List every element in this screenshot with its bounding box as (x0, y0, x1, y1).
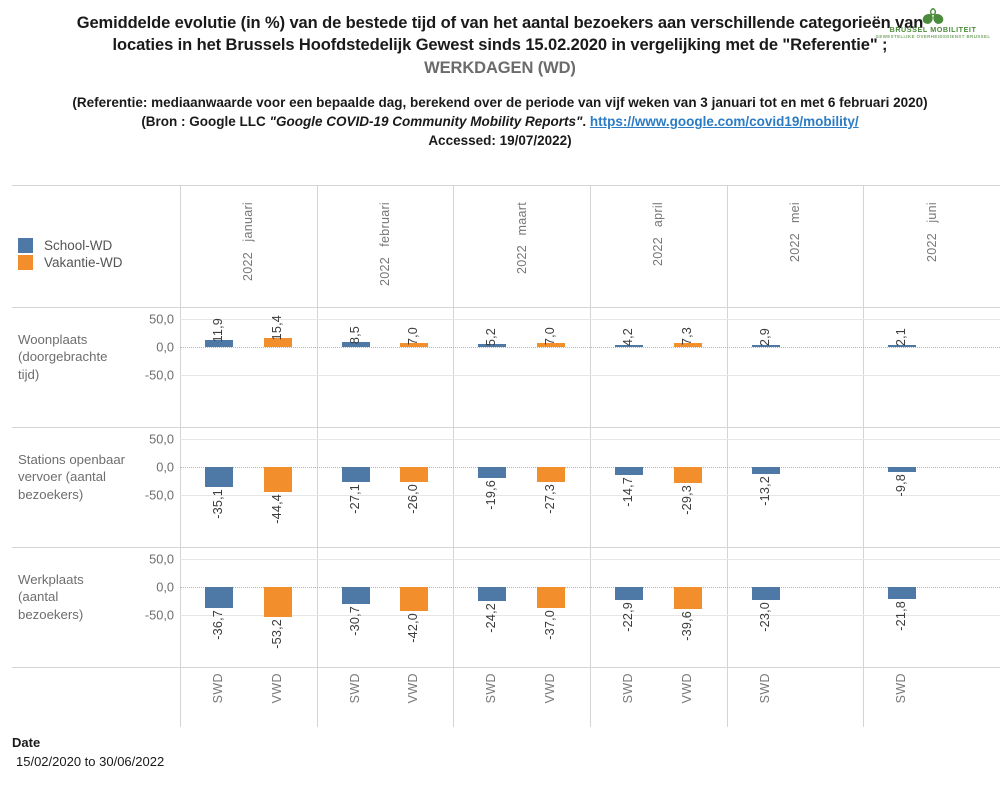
logo-name: BRUSSEL MOBILITEIT (874, 26, 992, 33)
bar-value-label: -23,0 (758, 602, 772, 632)
month-year-label: 2022 (651, 237, 665, 266)
bar-value-label: 2,1 (894, 328, 908, 346)
month-name-label: mei (788, 202, 802, 223)
x-tick-label: SWD (894, 673, 908, 703)
month-header-maart[interactable]: maart2022 (453, 185, 590, 307)
y-axis-ticks: 50,00,0-50,0 (126, 307, 176, 427)
bar-value-label: -44,4 (270, 494, 284, 524)
x-tick-swd[interactable]: SWD (621, 673, 635, 708)
x-tick-label: VWD (543, 673, 557, 703)
bar[interactable] (674, 587, 702, 609)
chart-header: Gemiddelde evolutie (in %) van de bested… (0, 0, 1000, 150)
legend-swatch-school (18, 238, 33, 253)
x-tick-label: SWD (758, 673, 772, 703)
bar-value-label: -27,3 (543, 484, 557, 514)
bar[interactable] (478, 587, 506, 601)
x-tick-label: VWD (270, 673, 284, 703)
month-header-februari[interactable]: februari2022 (317, 185, 454, 307)
page-title-main: Gemiddelde evolutie (in %) van de bested… (77, 14, 924, 54)
bar-value-label: -24,2 (484, 603, 498, 633)
bar-value-label: -30,7 (348, 606, 362, 636)
subtitle-accessed: Accessed: 19/07/2022) (60, 131, 940, 150)
logo-subtitle: GEWESTELIJKE OVERHEIDSDIENST BRUSSEL (874, 35, 992, 39)
iris-flower-icon (920, 8, 946, 25)
legend-label-school: School-WD (44, 238, 112, 253)
x-tick-swd[interactable]: SWD (211, 673, 225, 708)
bar[interactable] (752, 587, 780, 600)
y-tick-label: 50,0 (149, 432, 174, 447)
legend-item-school[interactable]: School-WD (18, 238, 123, 253)
legend-swatch-vakantie (18, 255, 33, 270)
bar[interactable] (264, 587, 292, 617)
bar[interactable] (400, 467, 428, 482)
chart-panel-0: Woonplaats (doorgebrachte tijd)50,00,0-5… (0, 307, 1000, 427)
y-axis-ticks: 50,00,0-50,0 (126, 427, 176, 547)
brussel-mobiliteit-logo: BRUSSEL MOBILITEIT GEWESTELIJKE OVERHEID… (874, 8, 992, 39)
bar-value-label: -14,7 (621, 477, 635, 507)
x-tick-label: SWD (484, 673, 498, 703)
x-tick-label: SWD (621, 673, 635, 703)
page-title: Gemiddelde evolutie (in %) van de bested… (70, 12, 930, 79)
month-name-label: juni (925, 202, 939, 223)
bar-value-label: -36,7 (211, 610, 225, 640)
x-tick-swd[interactable]: SWD (758, 673, 772, 708)
y-tick-label: 50,0 (149, 312, 174, 327)
gridline (180, 495, 1000, 496)
bar-value-label: -53,2 (270, 619, 284, 649)
month-year-label: 2022 (241, 252, 255, 281)
bar-value-label: -35,1 (211, 489, 225, 519)
y-tick-label: -50,0 (145, 488, 174, 503)
page-title-emphasis: WERKDAGEN (WD) (424, 59, 576, 77)
month-year-label: 2022 (515, 245, 529, 274)
bar[interactable] (888, 467, 916, 472)
month-year-label: 2022 (788, 233, 802, 262)
x-tick-vwd[interactable]: VWD (270, 673, 284, 708)
panel-plot-area: 11,915,48,57,05,27,04,27,32,92,1 (180, 307, 1000, 427)
bar-value-label: 2,9 (758, 328, 772, 346)
x-tick-swd[interactable]: SWD (348, 673, 362, 708)
bar-value-label: -26,0 (406, 484, 420, 514)
y-tick-label: -50,0 (145, 368, 174, 383)
bar-value-label: -29,3 (680, 485, 694, 515)
x-tick-vwd[interactable]: VWD (680, 673, 694, 708)
gridline (180, 559, 1000, 560)
zero-line (180, 347, 1000, 348)
subtitle-reference: (Referentie: mediaanwaarde voor een bepa… (60, 93, 940, 112)
subtitle-source-mid: . (582, 114, 590, 129)
google-mobility-link[interactable]: https://www.google.com/covid19/mobility/ (590, 114, 859, 129)
gridline (180, 375, 1000, 376)
bar[interactable] (674, 467, 702, 483)
x-axis-labels: SWDVWDSWDVWDSWDVWDSWDVWDSWDSWD (180, 667, 1000, 727)
bar[interactable] (342, 467, 370, 482)
gridline (180, 615, 1000, 616)
bar[interactable] (615, 467, 643, 475)
panel-plot-area: -36,7-53,2-30,7-42,0-24,2-37,0-22,9-39,6… (180, 547, 1000, 667)
bar-value-label: -39,6 (680, 611, 694, 641)
bar[interactable] (752, 467, 780, 474)
month-name-label: april (651, 202, 665, 227)
bar[interactable] (264, 467, 292, 492)
bar-value-label: -13,2 (758, 476, 772, 506)
bar-value-label: -27,1 (348, 484, 362, 514)
bar-value-label: -19,6 (484, 480, 498, 510)
x-tick-label: VWD (406, 673, 420, 703)
month-name-label: februari (378, 202, 392, 247)
bar[interactable] (537, 587, 565, 608)
bar[interactable] (205, 467, 233, 487)
bar-value-label: -37,0 (543, 610, 557, 640)
bar[interactable] (205, 587, 233, 608)
chart-footer: Date 15/02/2020 to 30/06/2022 (12, 735, 164, 769)
bar[interactable] (400, 587, 428, 611)
zero-line (180, 587, 1000, 588)
bar-value-label: -42,0 (406, 613, 420, 643)
y-axis-ticks: 50,00,0-50,0 (126, 547, 176, 667)
panel-plot-area: -35,1-44,4-27,1-26,0-19,6-27,3-14,7-29,3… (180, 427, 1000, 547)
bar[interactable] (478, 467, 506, 478)
x-tick-label: SWD (348, 673, 362, 703)
subtitle-source-pre: (Bron : Google LLC (141, 114, 269, 129)
x-tick-swd[interactable]: SWD (484, 673, 498, 708)
date-filter-value: 15/02/2020 to 30/06/2022 (12, 754, 164, 769)
bar[interactable] (342, 587, 370, 604)
bar-value-label: 5,2 (484, 328, 498, 346)
chart-area: School-WD Vakantie-WD januari2022februar… (0, 185, 1000, 685)
chart-panel-1: Stations openbaar vervoer (aantal bezoek… (0, 427, 1000, 547)
subtitle-source-title: "Google COVID-19 Community Mobility Repo… (270, 114, 583, 129)
month-year-label: 2022 (925, 233, 939, 262)
month-header-april[interactable]: april2022 (590, 185, 727, 307)
y-tick-label: 0,0 (156, 460, 174, 475)
x-tick-vwd[interactable]: VWD (543, 673, 557, 708)
x-tick-vwd[interactable]: VWD (406, 673, 420, 708)
bar-value-label: 8,5 (348, 326, 362, 344)
bar-value-label: -9,8 (894, 474, 908, 497)
bar-value-label: 7,0 (543, 327, 557, 345)
y-tick-label: 50,0 (149, 552, 174, 567)
zero-line (180, 467, 1000, 468)
x-tick-swd[interactable]: SWD (894, 673, 908, 708)
bar[interactable] (888, 587, 916, 599)
bar-value-label: -22,9 (621, 602, 635, 632)
chart-legend: School-WD Vakantie-WD (18, 238, 123, 272)
month-name-label: januari (241, 202, 255, 242)
gridline (180, 319, 1000, 320)
x-tick-label: SWD (211, 673, 225, 703)
bar[interactable] (615, 587, 643, 600)
bar-value-label: 7,0 (406, 327, 420, 345)
panel-row-label: Werkplaats (aantal bezoekers) (18, 571, 126, 623)
bar-value-label: 15,4 (270, 315, 284, 340)
x-tick-label: VWD (680, 673, 694, 703)
bar-value-label: 7,3 (680, 327, 694, 345)
month-name-label: maart (515, 202, 529, 235)
month-header-januari[interactable]: januari2022 (180, 185, 317, 307)
chart-subtitle: (Referentie: mediaanwaarde voor een bepa… (60, 93, 940, 150)
bar-value-label: 4,2 (621, 328, 635, 346)
date-filter-label: Date (12, 735, 164, 750)
subtitle-source: (Bron : Google LLC "Google COVID-19 Comm… (60, 112, 940, 131)
y-tick-label: 0,0 (156, 340, 174, 355)
month-header-juni[interactable]: juni2022 (863, 185, 1000, 307)
legend-item-vakantie[interactable]: Vakantie-WD (18, 255, 123, 270)
month-header-mei[interactable]: mei2022 (727, 185, 864, 307)
panel-row-label: Woonplaats (doorgebrachte tijd) (18, 331, 126, 383)
gridline (180, 439, 1000, 440)
panel-row-label: Stations openbaar vervoer (aantal bezoek… (18, 451, 126, 503)
bar[interactable] (537, 467, 565, 482)
chart-panel-2: Werkplaats (aantal bezoekers)50,00,0-50,… (0, 547, 1000, 667)
bar-value-label: -21,8 (894, 601, 908, 631)
legend-label-vakantie: Vakantie-WD (44, 255, 123, 270)
bar-value-label: 11,9 (211, 318, 225, 342)
y-tick-label: 0,0 (156, 580, 174, 595)
month-year-label: 2022 (378, 257, 392, 286)
y-tick-label: -50,0 (145, 608, 174, 623)
